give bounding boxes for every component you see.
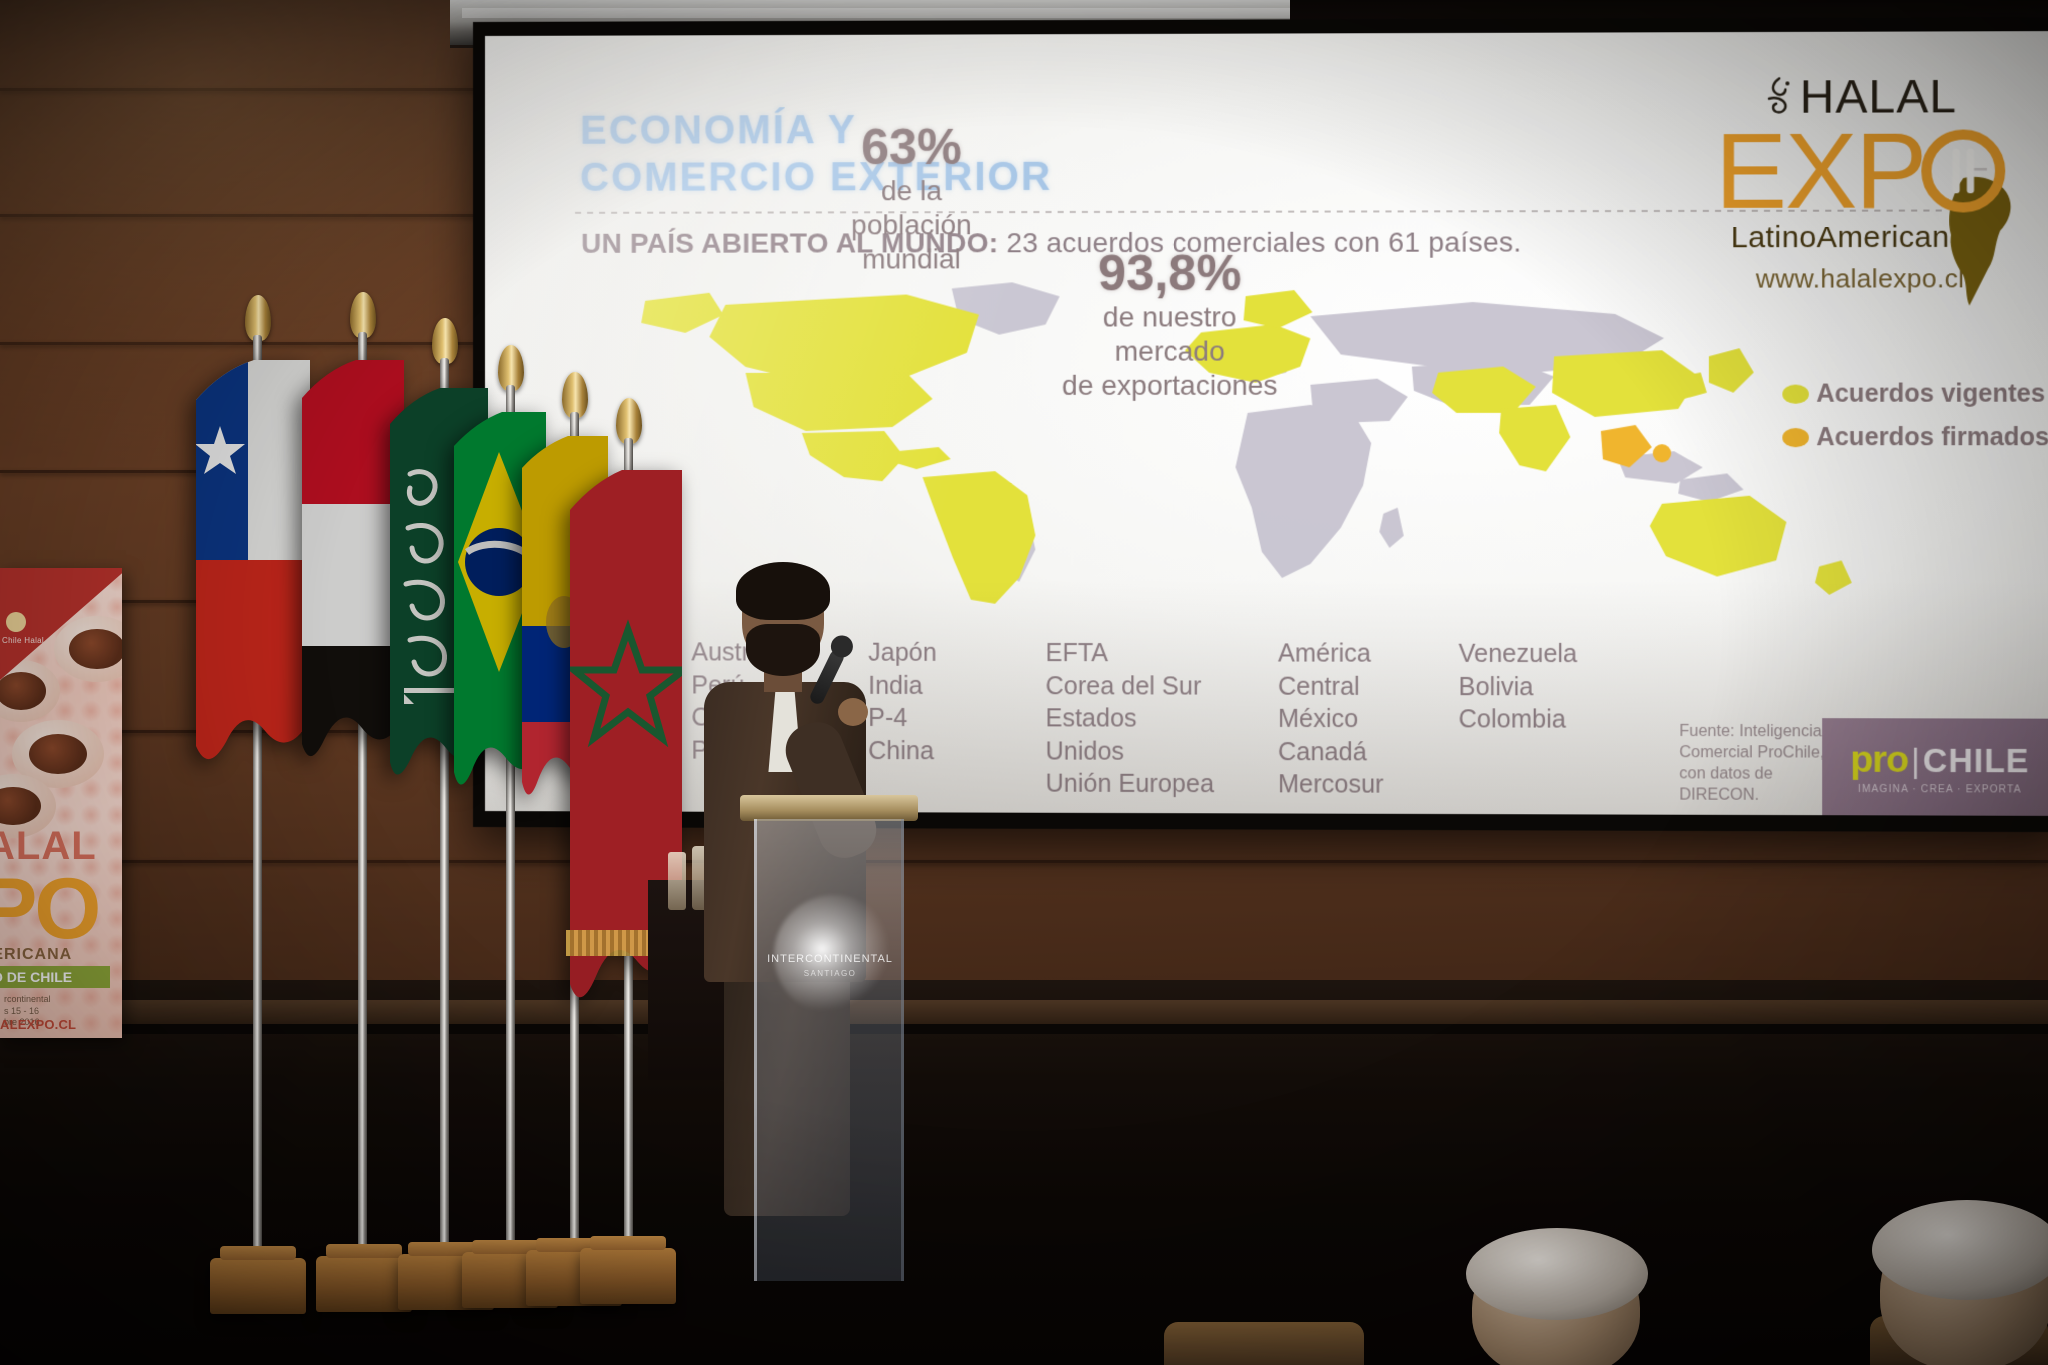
podium-top: [740, 795, 918, 821]
chair-back: [1164, 1322, 1364, 1365]
audience-head: [1472, 1238, 1640, 1365]
callout-poblacion: 63% de la población mundial: [796, 121, 1028, 277]
country-item: América: [1278, 637, 1410, 670]
cutlery-icon: [1953, 149, 1974, 194]
speaker-hair: [736, 562, 830, 620]
legend-item-firmados: Acuerdos firmados: [1782, 423, 2048, 452]
prochile-wordmark: pro | CHILE: [1850, 738, 2029, 781]
country-column-3: EFTA Corea del Sur Estados Unidos Unión …: [1046, 637, 1230, 801]
podium-light-glare: [774, 895, 894, 1015]
flag-chile: [192, 360, 310, 780]
country-item: Corea del Sur: [1046, 670, 1230, 703]
stage-floor: [0, 980, 2048, 1365]
legend-label-firmados: Acuerdos firmados: [1816, 423, 2048, 452]
country-item: Venezuela: [1459, 638, 1601, 671]
speaker-beard: [746, 624, 820, 676]
legend-swatch-firmados: [1782, 428, 1809, 447]
country-item: P-4: [868, 702, 997, 735]
callout-exportaciones: 93,8% de nuestro mercado de exportacione…: [1043, 247, 1296, 403]
banner-url-text: ALEXPO.CL: [0, 1017, 76, 1032]
country-item: EFTA: [1046, 637, 1230, 670]
country-item: India: [868, 669, 997, 702]
country-item: China: [868, 734, 997, 767]
callout-exportaciones-text: de nuestro mercado de exportaciones: [1043, 300, 1296, 403]
callout-exportaciones-percent: 93,8%: [1043, 247, 1296, 300]
rollup-banner: Chile Halal ALAL PO MERICANA O DE CHILE …: [0, 568, 122, 1038]
presentation-scene: ECONOMÍA Y COMERCIO EXTERIOR UN PAÍS ABI…: [0, 0, 2048, 1365]
country-item: Unidos: [1046, 735, 1230, 768]
country-column-4: América Central México Canadá Mercosur: [1278, 637, 1410, 801]
callout-poblacion-text: de la población mundial: [796, 173, 1028, 276]
prochile-logo: pro | CHILE IMAGINA · CREA · EXPORTA: [1822, 718, 2048, 816]
callout-poblacion-percent: 63%: [796, 121, 1028, 174]
country-column-2: Japón India P-4 China: [868, 637, 997, 800]
country-item: México: [1278, 703, 1410, 736]
audience-hair: [1872, 1200, 2048, 1300]
banner-expo-text: PO: [0, 860, 98, 959]
podium: INTERCONTINENTAL SANTIAGO: [740, 795, 918, 1295]
prochile-pro: pro: [1850, 738, 1908, 781]
map-legend: Acuerdos vigentes Acuerdos firmados: [1782, 379, 2048, 466]
country-item: Unión Europea: [1046, 768, 1230, 801]
fork-icon: [1967, 149, 1974, 194]
expo-text: EXP: [1715, 117, 1926, 225]
banner-chile-text: O DE CHILE: [0, 966, 110, 988]
flag-base: [210, 1258, 306, 1314]
banner-seal-text: Chile Halal: [2, 636, 44, 645]
flag-base: [580, 1248, 676, 1304]
country-item: Bolivia: [1459, 670, 1601, 703]
banner-seal-icon: [6, 612, 26, 632]
stage-edge: [100, 1000, 2048, 1026]
halal-expo-logo: HALAL EXP LatinoAmericana: [1692, 68, 2029, 281]
country-item: Colombia: [1459, 703, 1601, 736]
legend-item-vigentes: Acuerdos vigentes: [1782, 379, 2048, 408]
expo-wordmark-row: EXP: [1692, 115, 2029, 227]
knife-icon: [1953, 149, 1960, 194]
prochile-separator: |: [1911, 742, 1920, 780]
wall-seam: [0, 860, 2048, 863]
country-column-5: Venezuela Bolivia Colombia: [1459, 638, 1601, 802]
prochile-chile: CHILE: [1923, 742, 2029, 781]
map-landmass-firmados: [1601, 425, 1671, 467]
audience-head: [1880, 1212, 2048, 1365]
country-item: Canadá: [1278, 735, 1410, 768]
podium-glass-panel: [754, 819, 904, 1281]
country-item: Mercosur: [1278, 768, 1410, 801]
prochile-tagline: IMAGINA · CREA · EXPORTA: [1858, 784, 2022, 796]
water-glass: [668, 852, 686, 910]
country-item: Central: [1278, 670, 1410, 703]
banner-americana-text: MERICANA: [0, 946, 72, 964]
legend-swatch-vigentes: [1782, 385, 1809, 404]
audience-hair: [1466, 1228, 1648, 1320]
legend-label-vigentes: Acuerdos vigentes: [1816, 379, 2045, 408]
speaker-hand: [838, 698, 868, 726]
country-item: Japón: [868, 637, 997, 670]
expo-o-icon: [1921, 129, 2005, 212]
country-item: Estados: [1046, 702, 1230, 735]
stage-lip: [100, 1024, 2048, 1034]
